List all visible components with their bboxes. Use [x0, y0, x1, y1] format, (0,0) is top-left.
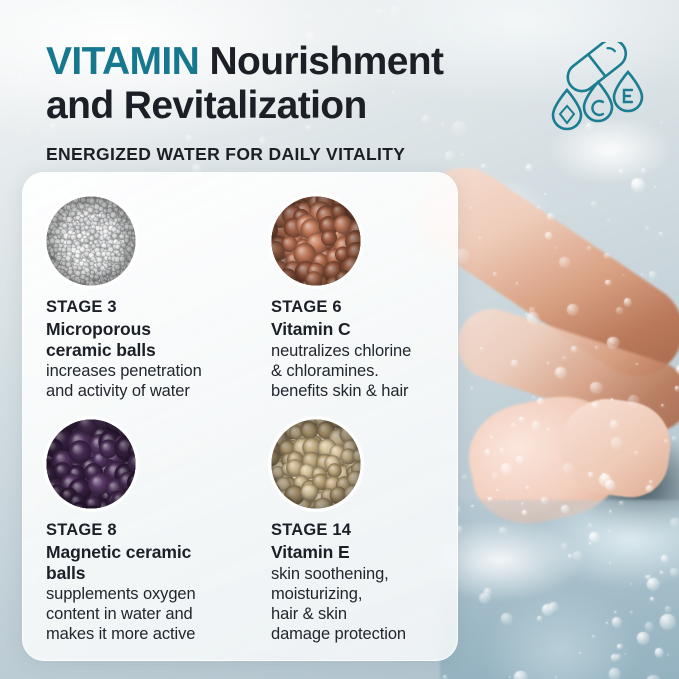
desc-line-3: makes it more active	[46, 625, 195, 643]
droplet-vitamin-c-icon	[584, 82, 612, 121]
stage-label: STAGE 3	[46, 298, 271, 317]
card-title: Vitamin C	[271, 319, 446, 340]
infographic-canvas: VITAMIN Nourishmentand Revitalization EN…	[0, 0, 679, 679]
card-stage-3: STAGE 3 Microporousceramic balls increas…	[46, 196, 271, 403]
desc-line-1: skin soothening,	[271, 565, 389, 583]
stage-label: STAGE 14	[271, 521, 446, 540]
ball-swatch-stage-6	[271, 196, 361, 286]
ball-swatch-stage-14	[271, 419, 361, 509]
card-stage-8: STAGE 8 Magnetic ceramicballs supplement…	[46, 419, 271, 646]
card-description: neutralizes chlorine& chloramines.benefi…	[271, 341, 446, 401]
card-description: skin soothening,moisturizing,hair & skin…	[271, 564, 446, 645]
desc-line-2: moisturizing,	[271, 585, 362, 603]
stage-label: STAGE 6	[271, 298, 446, 317]
title-line-two: and Revitalization	[46, 84, 367, 127]
header: VITAMIN Nourishmentand Revitalization EN…	[46, 40, 566, 165]
title-accent-word: VITAMIN	[46, 40, 199, 83]
card-title-line-1: Microporous	[46, 319, 151, 339]
card-stage-6: STAGE 6 Vitamin C neutralizes chlorine& …	[271, 196, 446, 403]
desc-line-3: benefits skin & hair	[271, 382, 408, 400]
desc-line-1: neutralizes chlorine	[271, 342, 411, 360]
card-title: Vitamin E	[271, 542, 446, 563]
desc-line-3: hair & skin	[271, 605, 347, 623]
desc-line-2: and activity of water	[46, 382, 190, 400]
desc-line-1: supplements oxygen	[46, 585, 196, 603]
stage-label: STAGE 8	[46, 521, 271, 540]
vitamin-icon-cluster	[548, 42, 658, 148]
page-subtitle: ENERGIZED WATER FOR DAILY VITALITY	[46, 144, 566, 165]
water-splash-lower	[440, 500, 679, 679]
desc-line-2: & chloramines.	[271, 362, 379, 380]
droplet-mineral-icon	[553, 90, 581, 129]
card-stage-14: STAGE 14 Vitamin E skin soothening,moist…	[271, 419, 446, 646]
card-title-line-2: balls	[46, 563, 85, 583]
capsule-icon	[562, 42, 631, 97]
card-description: increases penetrationand activity of wat…	[46, 361, 271, 401]
ball-swatch-stage-8	[46, 419, 136, 509]
card-title: Microporousceramic balls	[46, 319, 271, 360]
page-title: VITAMIN Nourishmentand Revitalization	[46, 40, 566, 128]
stage-cards-grid: STAGE 3 Microporousceramic balls increas…	[46, 196, 446, 646]
droplet-vitamin-e-icon	[614, 72, 642, 111]
card-title-line-1: Magnetic ceramic	[46, 542, 191, 562]
title-rest-word: Nourishment	[209, 40, 443, 83]
desc-line-4: damage protection	[271, 625, 406, 643]
card-title-line-2: ceramic balls	[46, 340, 156, 360]
card-title: Magnetic ceramicballs	[46, 542, 271, 583]
card-description: supplements oxygencontent in water andma…	[46, 584, 271, 644]
desc-line-1: increases penetration	[46, 362, 202, 380]
desc-line-2: content in water and	[46, 605, 193, 623]
ball-swatch-stage-3	[46, 196, 136, 286]
